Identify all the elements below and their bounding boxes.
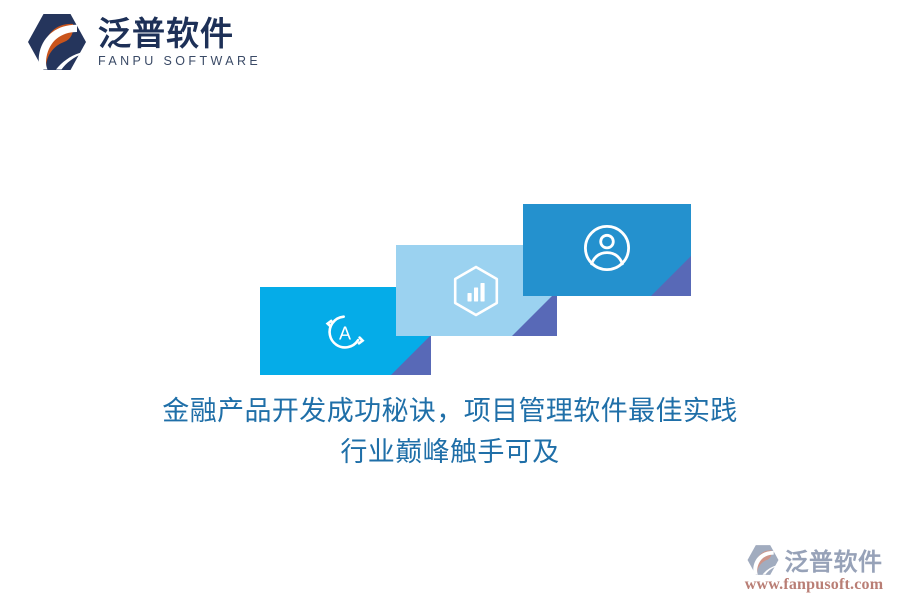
brand-name-en: FANPU SOFTWARE — [98, 55, 261, 69]
headline: 金融产品开发成功秘诀，项目管理软件最佳实践 行业巅峰触手可及 — [0, 391, 900, 473]
feature-card-user — [523, 204, 691, 296]
headline-line-1: 金融产品开发成功秘诀，项目管理软件最佳实践 — [0, 391, 900, 432]
brand-name-cn: 泛普软件 — [98, 17, 261, 52]
headline-line-2: 行业巅峰触手可及 — [0, 432, 900, 473]
card-tail-translate — [391, 335, 431, 375]
card-tail-user — [651, 256, 691, 296]
hexagon-bar-chart-icon — [446, 261, 506, 321]
watermark: 泛普软件 www.fanpusoft.com — [738, 542, 890, 594]
translate-refresh-a-icon: A — [312, 304, 378, 360]
brand-logo: 泛普软件 FANPU SOFTWARE — [26, 12, 261, 72]
watermark-name-cn: 泛普软件 — [785, 542, 883, 577]
watermark-logo-row: 泛普软件 — [746, 542, 883, 577]
card-tail-analytics — [512, 291, 557, 336]
feature-card-analytics — [396, 245, 557, 336]
feature-card-cluster: A — [0, 0, 900, 600]
watermark-url: www.fanpusoft.com — [745, 576, 884, 594]
fanpu-hexagon-logo-icon — [26, 12, 88, 72]
fanpu-hexagon-logo-watermark-icon — [746, 544, 780, 576]
user-circle-icon — [578, 219, 636, 277]
banner-canvas: 泛普软件 FANPU SOFTWARE A — [0, 0, 900, 600]
card-background-translate — [260, 287, 431, 375]
card-background-analytics — [396, 245, 557, 336]
feature-card-translate: A — [260, 287, 431, 375]
brand-text: 泛普软件 FANPU SOFTWARE — [98, 15, 261, 68]
svg-text:A: A — [339, 324, 351, 344]
card-background-user — [523, 204, 691, 296]
